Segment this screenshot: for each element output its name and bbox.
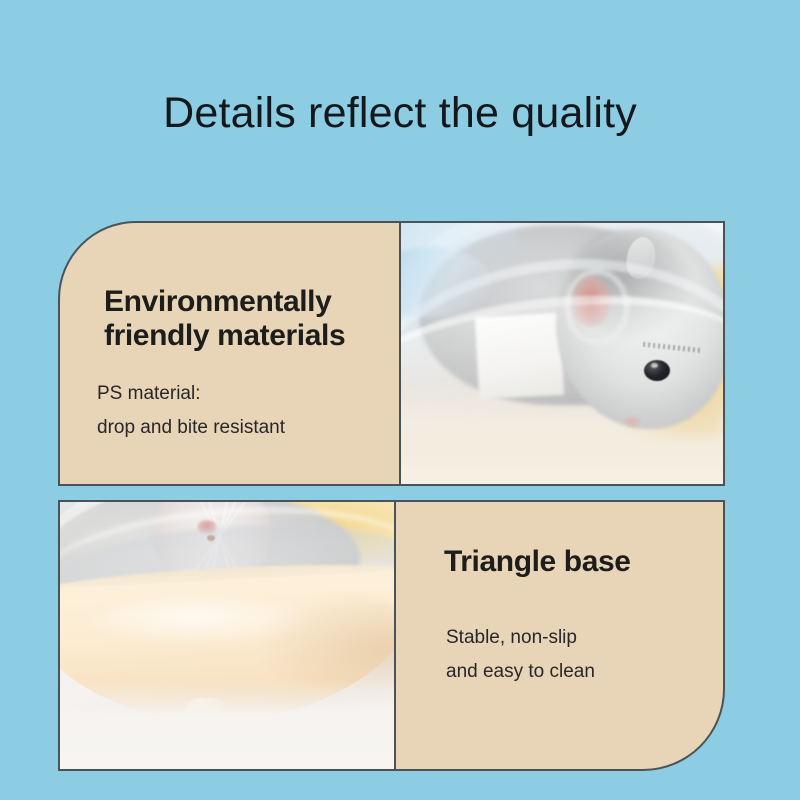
- feature-body-line-1: Stable, non-slip: [446, 621, 706, 655]
- feature-body-triangle-base: Stable, non-slip and easy to clean: [446, 621, 706, 689]
- page-title: Details reflect the quality: [0, 86, 800, 141]
- feature-card-environmentally-friendly-materials: Environmentally friendly materials PS ma…: [58, 221, 400, 486]
- feature-body-line-2: and easy to clean: [446, 655, 706, 689]
- product-photo-bowl-triangle-base: [58, 500, 395, 771]
- feature-heading-environmental: Environmentally friendly materials: [104, 285, 394, 353]
- feature-heading-triangle-base: Triangle base: [444, 545, 704, 579]
- feature-grid: Environmentally friendly materials PS ma…: [58, 221, 725, 771]
- feature-body-line-1: PS material:: [97, 377, 397, 411]
- feature-body-environmental: PS material: drop and bite resistant: [97, 377, 397, 445]
- hamster-eye-glint: [651, 363, 658, 368]
- feature-row-bottom: Triangle base Stable, non-slip and easy …: [58, 500, 725, 771]
- product-photo-hamster-in-bowl: [400, 221, 725, 486]
- photo-desk-surface: [60, 679, 394, 769]
- feature-card-triangle-base: Triangle base Stable, non-slip and easy …: [395, 500, 725, 771]
- product-feature-banner: Details reflect the quality Environmenta…: [0, 0, 800, 800]
- photo-bottom-cream-strip: [401, 430, 723, 484]
- feature-row-top: Environmentally friendly materials PS ma…: [58, 221, 725, 486]
- feature-body-line-2: drop and bite resistant: [97, 411, 397, 445]
